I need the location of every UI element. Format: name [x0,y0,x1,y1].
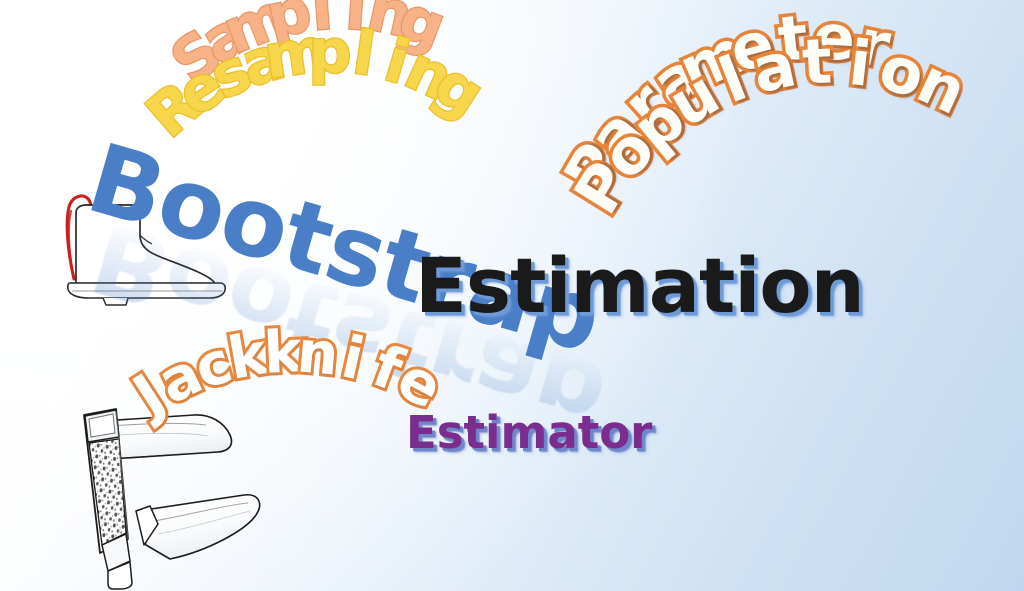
word-estimation: Estimation [415,248,864,324]
word-parameter-reflection: Parameter [612,318,1024,548]
arc-letter: n [295,322,341,383]
word-bootstrap: Bootstrap [79,130,611,367]
arc-letter: P [555,558,631,591]
arc-letter: p [309,22,352,82]
infographic-canvas: Sampling Resampling Bootstrap Bootstrap … [0,0,1024,591]
boot-illustration [48,183,238,308]
arc-letter: t [801,31,834,94]
arc-letter: i [337,328,369,389]
word-estimator: Estimator [406,410,652,455]
